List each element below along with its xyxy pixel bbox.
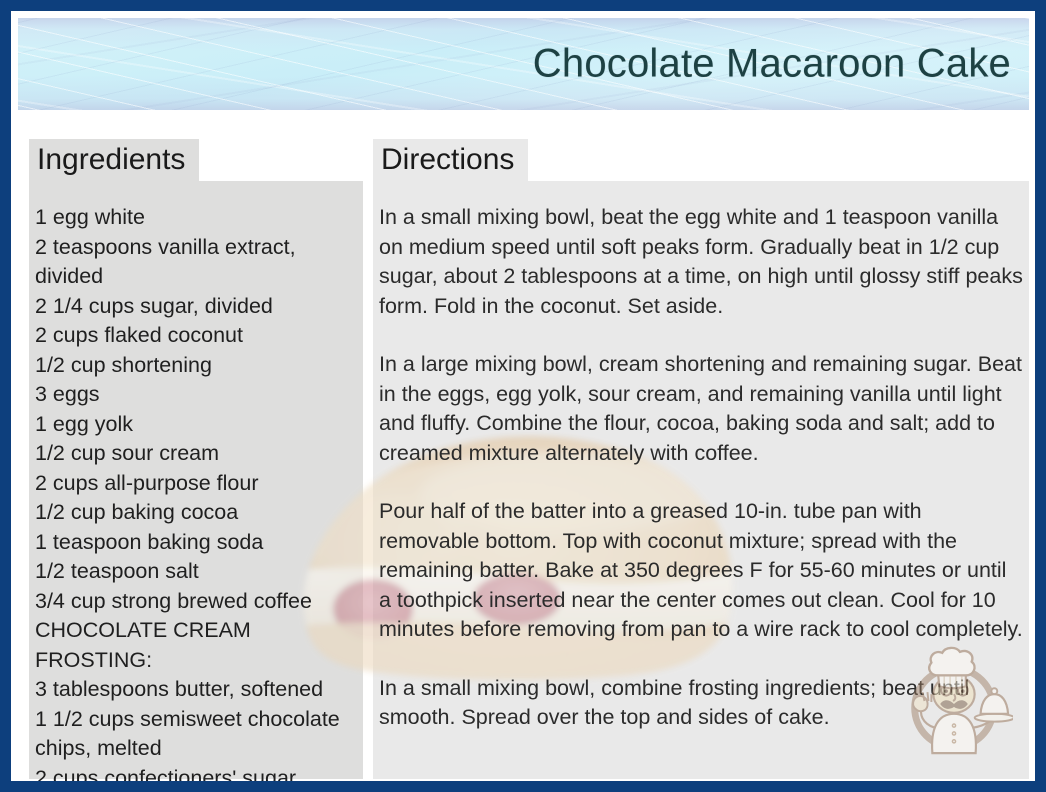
ingredient-item: 1 1/2 cups semisweet chocolate chips, me…: [35, 705, 357, 764]
ingredient-item: 1 egg white: [35, 203, 357, 233]
ingredients-list: 1 egg white2 teaspoons vanilla extract, …: [35, 203, 357, 792]
page-title: Chocolate Macaroon Cake: [533, 42, 1011, 87]
section-header-ingredients: Ingredients: [29, 139, 199, 181]
ingredient-item: 3 eggs: [35, 380, 357, 410]
header-banner: Chocolate Macaroon Cake: [18, 18, 1029, 110]
direction-step: In a small mixing bowl, beat the egg whi…: [379, 203, 1024, 321]
direction-step: In a large mixing bowl, cream shortening…: [379, 350, 1024, 468]
ingredient-item: 1/2 cup sour cream: [35, 439, 357, 469]
recipe-card: Chocolate Macaroon Cake Ingredients Dire…: [0, 0, 1046, 792]
ingredient-item: 2 cups confectioners' sugar: [35, 764, 357, 792]
direction-step: Pour half of the batter into a greased 1…: [379, 497, 1024, 645]
ingredient-item: 2 cups all-purpose flour: [35, 469, 357, 499]
section-header-directions: Directions: [373, 139, 528, 181]
ingredient-item: 1/2 teaspoon salt: [35, 557, 357, 587]
direction-step: In a small mixing bowl, combine frosting…: [379, 674, 1024, 733]
ingredient-item: 3/4 cup strong brewed coffee: [35, 587, 357, 617]
ingredient-item: 3 tablespoons butter, softened: [35, 675, 357, 705]
ingredient-item: CHOCOLATE CREAM FROSTING:: [35, 616, 357, 675]
ingredient-item: 1 teaspoon baking soda: [35, 528, 357, 558]
ingredient-item: 1 egg yolk: [35, 410, 357, 440]
directions-text: In a small mixing bowl, beat the egg whi…: [379, 203, 1024, 733]
ingredient-item: 2 teaspoons vanilla extract, divided: [35, 233, 357, 292]
ingredient-item: 1/2 cup baking cocoa: [35, 498, 357, 528]
ingredient-item: 1/2 cup shortening: [35, 351, 357, 381]
ingredient-item: 2 cups flaked coconut: [35, 321, 357, 351]
ingredient-item: 2 1/4 cups sugar, divided: [35, 292, 357, 322]
